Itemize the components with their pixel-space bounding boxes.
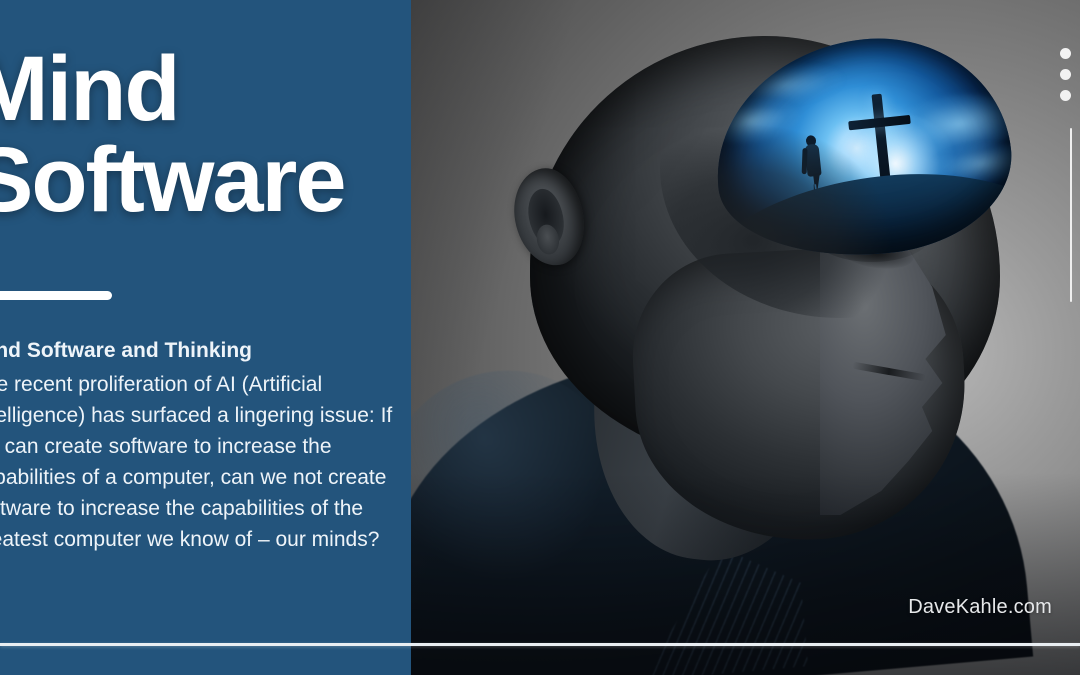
vertical-accent-rule — [1070, 128, 1072, 302]
title-line-2: Software — [0, 135, 532, 226]
bottom-divider-rule — [0, 643, 1080, 646]
accent-dot — [1060, 48, 1071, 59]
title-line-1: Mind — [0, 38, 179, 140]
article-body-text: The recent proliferation of AI (Artifici… — [0, 369, 422, 555]
article-excerpt-block: Mind Software and Thinking The recent pr… — [0, 338, 422, 555]
page-title: Mind Software — [0, 44, 532, 226]
title-underline-rule — [0, 291, 112, 300]
accent-dot — [1060, 69, 1071, 80]
accent-dot — [1060, 90, 1071, 101]
three-dot-accent — [1060, 48, 1071, 101]
article-subheading: Mind Software and Thinking — [0, 338, 422, 365]
banner-canvas: Mind Software Mind Software and Thinking… — [0, 0, 1080, 675]
site-watermark: DaveKahle.com — [908, 596, 1052, 619]
